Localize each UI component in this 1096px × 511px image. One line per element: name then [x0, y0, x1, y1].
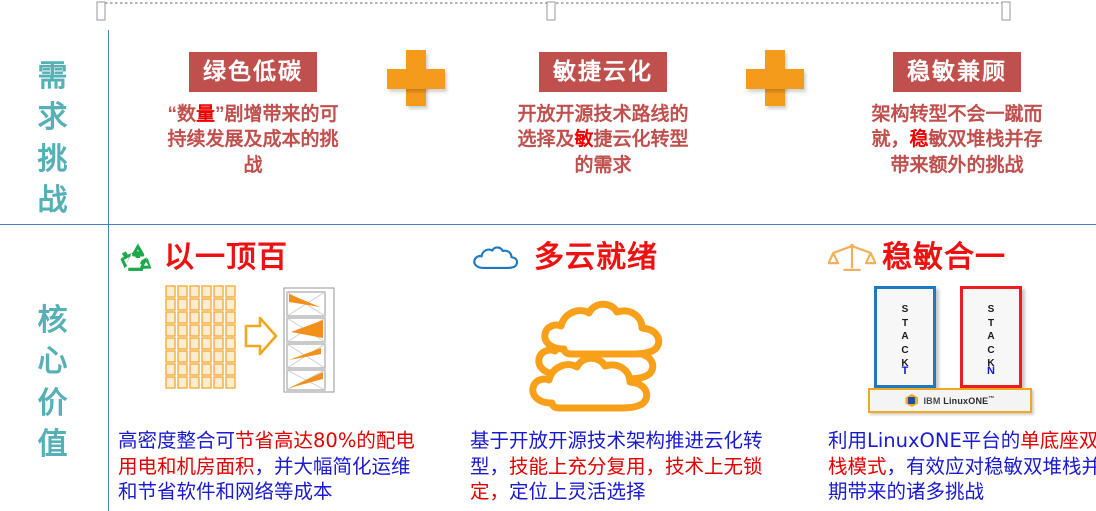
challenge-card-green-low-carbon: 绿色低碳 “数量”剧增带来的可持续发展及成本的挑战 [158, 52, 348, 178]
value-card-title: 多云就绪 [534, 243, 658, 273]
stack-label-n: S T A C K [963, 303, 1019, 371]
stack-letter: S [877, 303, 933, 317]
slide-canvas: 需 求 挑 战 核 心 价 值 绿色低碳 “数量”剧增带来的可持续发展及成本的挑… [0, 0, 1096, 511]
challenge-card-stable-agile: 稳敏兼顾 架构转型不会一蹴而就，稳敏双堆栈并存带来额外的挑战 [862, 52, 1052, 178]
stack-letter: S [963, 303, 1019, 317]
balance-scale-icon [828, 241, 876, 275]
row-label-char: 挑 [22, 139, 84, 180]
stack-letter: A [877, 330, 933, 344]
ibm-label: IBM [923, 396, 940, 406]
row-label-challenge: 需 求 挑 战 [22, 56, 84, 222]
dual-stack-diagram: S T A C K T S T A C K [828, 278, 1096, 428]
row-label-char: 求 [22, 97, 84, 138]
stack-letter: C [963, 344, 1019, 358]
plus-icon [385, 48, 447, 110]
challenge-badge: 稳敏兼顾 [893, 52, 1021, 92]
stack-box-n: S T A C K N [960, 286, 1022, 388]
value-card-header: 稳敏合一 [828, 238, 1096, 278]
server-consolidation-diagram [118, 278, 418, 428]
value-card-title: 以一顶百 [164, 243, 288, 273]
value-card-header: 以一顶百 [118, 238, 418, 278]
linuxone-platform-badge: IBM LinuxONE™ [868, 388, 1032, 413]
plus-icon [744, 48, 806, 110]
row-label-char: 战 [22, 180, 84, 221]
row-label-char: 价 [22, 383, 84, 424]
stack-label-t: S T A C K [877, 303, 933, 371]
challenge-body: “数量”剧增带来的可持续发展及成本的挑战 [158, 102, 348, 178]
challenge-badge: 敏捷云化 [539, 52, 667, 92]
linuxone-label: LinuxONE [943, 396, 988, 406]
stack-key-t: T [877, 365, 933, 377]
linuxone-logo-icon [905, 394, 918, 407]
stack-letter: T [963, 317, 1019, 331]
row-label-char: 值 [22, 424, 84, 465]
column-divider-top [108, 30, 109, 224]
stacked-clouds-diagram [470, 278, 770, 428]
row-label-char: 心 [22, 341, 84, 382]
trademark-symbol: ™ [988, 396, 994, 402]
stack-box-t: S T A C K T [874, 286, 936, 388]
stack-letter: A [963, 330, 1019, 344]
value-card-consolidation: 以一顶百 [118, 238, 418, 505]
value-card-title: 稳敏合一 [882, 243, 1006, 273]
value-card-dual-stack: 稳敏合一 S T A C K T S T [828, 238, 1096, 505]
row-label-char: 需 [22, 56, 84, 97]
arrow-right-icon [246, 318, 276, 354]
column-divider-bottom [108, 225, 109, 511]
stack-letter: C [877, 344, 933, 358]
multicloud-artwork [520, 278, 700, 418]
row-label-char: 核 [22, 300, 84, 341]
row-label-value: 核 心 价 值 [22, 300, 84, 466]
value-card-body: 高密度整合可节省高达80%的配电用电和机房面积，并大幅简化运维和节省软件和网络等… [118, 428, 418, 505]
challenge-body: 架构转型不会一蹴而就，稳敏双堆栈并存带来额外的挑战 [862, 102, 1052, 178]
value-card-body: 利用LinuxONE平台的单底座双堆栈模式，有效应对稳敏双堆栈并存期带来的诸多挑… [828, 428, 1096, 505]
top-bracket-shape [96, 0, 1014, 22]
linuxone-badge-text: IBM LinuxONE™ [923, 396, 994, 406]
challenge-body: 开放开源技术路线的选择及敏捷云化转型的需求 [508, 102, 698, 178]
stack-key-n: N [963, 365, 1019, 377]
value-card-header: 多云就绪 [470, 238, 770, 278]
challenge-card-agile-cloud: 敏捷云化 开放开源技术路线的选择及敏捷云化转型的需求 [508, 52, 698, 178]
value-card-multicloud: 多云就绪 基于开放开源技术架构推进云化转型，技能上充分复用，技术上无锁定，定位上… [470, 238, 770, 505]
consolidation-artwork [160, 280, 350, 400]
row-divider [0, 224, 1096, 225]
cloud-icon [470, 241, 528, 275]
value-card-body: 基于开放开源技术架构推进云化转型，技能上充分复用，技术上无锁定，定位上灵活选择 [470, 428, 770, 505]
stack-letter: T [877, 317, 933, 331]
challenge-badge: 绿色低碳 [189, 52, 317, 92]
recycle-icon [118, 241, 158, 275]
